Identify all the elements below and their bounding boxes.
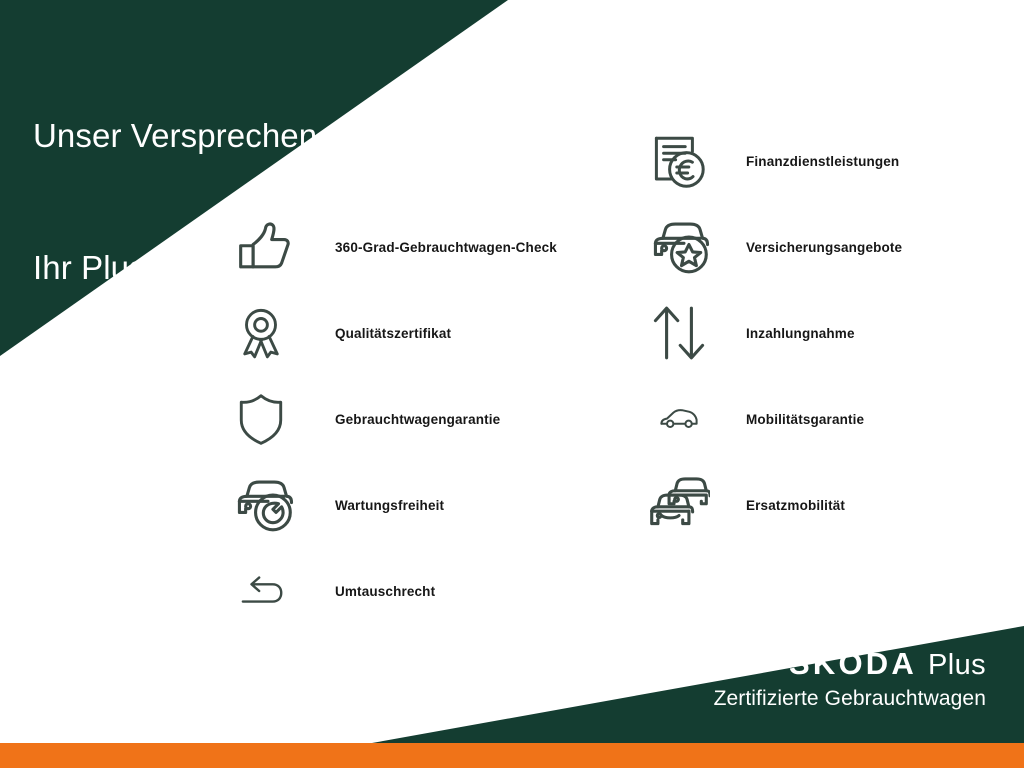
feature-label: Finanzdienstleistungen bbox=[746, 154, 899, 169]
return-arrow-icon bbox=[232, 560, 306, 622]
feature-item-360-check: 360-Grad-Gebrauchtwagen-Check bbox=[232, 204, 652, 290]
quality-rosette-icon bbox=[232, 302, 306, 364]
skoda-wordmark: ŠKODA bbox=[789, 648, 917, 679]
feature-label: Qualitätszertifikat bbox=[335, 326, 451, 341]
feature-label: Inzahlungnahme bbox=[746, 326, 855, 341]
headline-line-1: Unser Versprechen. bbox=[33, 114, 326, 158]
feature-item-financial-services: Finanzdienstleistungen bbox=[648, 118, 1018, 204]
feature-item-trade-in: Inzahlungnahme bbox=[648, 290, 1018, 376]
orange-footer-bar bbox=[0, 743, 1024, 768]
skoda-plus-logo: ŠKODA Plus Zertifizierte Gebrauchtwagen bbox=[714, 648, 986, 710]
promo-banner: Unser Versprechen. Ihr Plus. 360-Grad-Ge… bbox=[0, 0, 1024, 768]
car-wrench-icon bbox=[232, 474, 306, 536]
feature-label: Gebrauchtwagengarantie bbox=[335, 412, 500, 427]
feature-label: Mobilitätsgarantie bbox=[746, 412, 864, 427]
feature-item-warranty: Gebrauchtwagengarantie bbox=[232, 376, 652, 462]
feature-label: 360-Grad-Gebrauchtwagen-Check bbox=[335, 240, 557, 255]
feature-item-mobility-guarantee: Mobilitätsgarantie bbox=[648, 376, 1018, 462]
feature-item-replacement-mobility: Ersatzmobilität bbox=[648, 462, 1018, 548]
feature-item-quality-certificate: Qualitätszertifikat bbox=[232, 290, 652, 376]
shield-icon bbox=[232, 388, 306, 450]
feature-label: Umtauschrecht bbox=[335, 584, 435, 599]
side-car-icon bbox=[648, 388, 722, 450]
feature-label: Ersatzmobilität bbox=[746, 498, 845, 513]
document-euro-icon bbox=[648, 130, 722, 192]
logo-wordmark-row: ŠKODA Plus bbox=[714, 648, 986, 680]
logo-tagline: Zertifizierte Gebrauchtwagen bbox=[714, 687, 986, 710]
thumbs-up-icon bbox=[232, 216, 306, 278]
up-down-arrows-icon bbox=[648, 302, 722, 364]
feature-item-exchange-right: Umtauschrecht bbox=[232, 548, 652, 634]
two-cars-icon bbox=[648, 474, 722, 536]
feature-label: Versicherungsangebote bbox=[746, 240, 902, 255]
plus-wordmark: Plus bbox=[928, 651, 986, 680]
feature-item-maintenance-free: Wartungsfreiheit bbox=[232, 462, 652, 548]
feature-item-insurance-offers: Versicherungsangebote bbox=[648, 204, 1018, 290]
feature-label: Wartungsfreiheit bbox=[335, 498, 444, 513]
car-star-icon bbox=[648, 216, 722, 278]
feature-list-left: 360-Grad-Gebrauchtwagen-Check Qualitätsz… bbox=[232, 204, 652, 634]
feature-list-right: Finanzdienstleistungen Versicherungsange… bbox=[648, 118, 1018, 548]
